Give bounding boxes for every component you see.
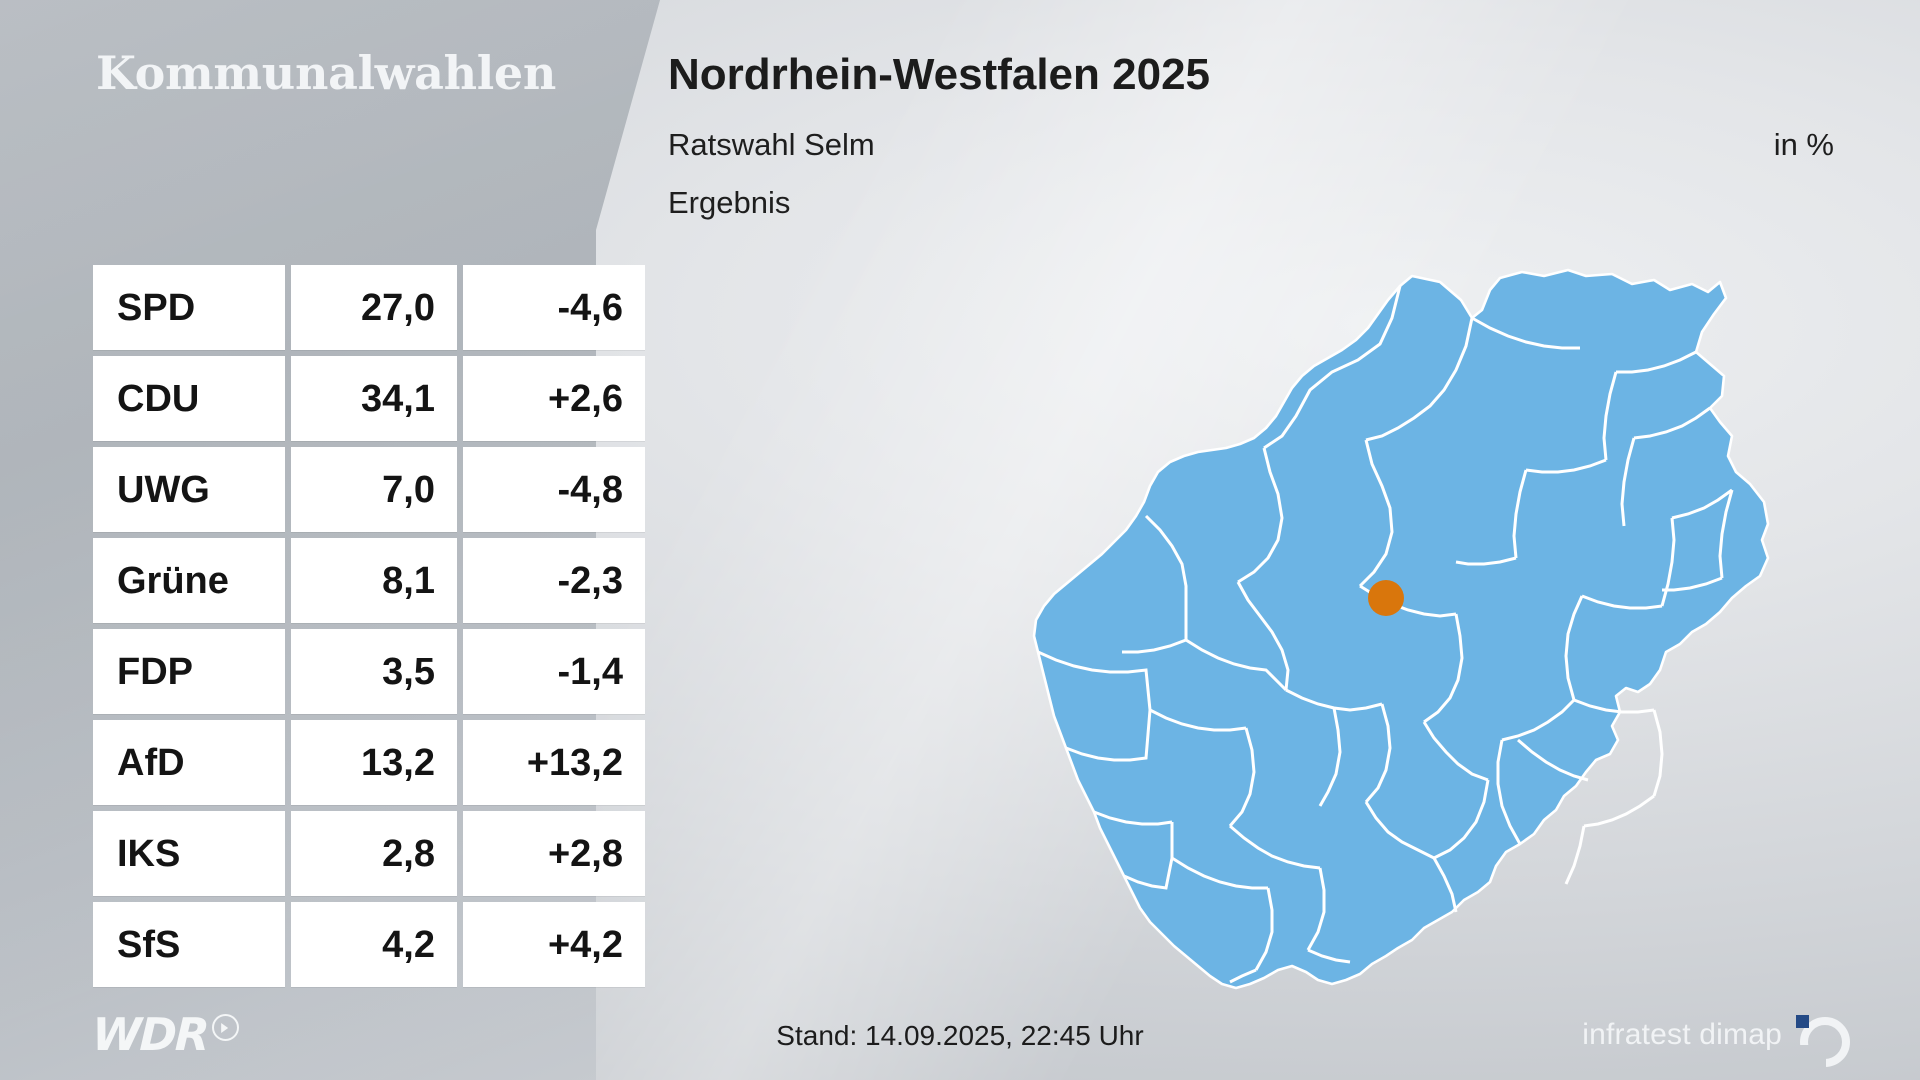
value-label: 8,1 bbox=[382, 562, 435, 600]
party-cell: AfD bbox=[93, 720, 285, 805]
party-cell: SfS bbox=[93, 902, 285, 987]
value-label: 7,0 bbox=[382, 471, 435, 509]
broadcast-graphic: Kommunalwahlen Nordrhein-Westfalen 2025 … bbox=[0, 0, 1920, 1080]
value-label: 4,2 bbox=[382, 926, 435, 964]
party-label: SPD bbox=[117, 289, 195, 327]
brand-title: Kommunalwahlen bbox=[96, 46, 556, 100]
unit-label: in % bbox=[1774, 127, 1834, 163]
party-cell: SPD bbox=[93, 265, 285, 350]
infratest-dimap-logo: infratest dimap bbox=[1582, 1015, 1836, 1055]
value-cell: 7,0 bbox=[291, 447, 457, 532]
party-cell: UWG bbox=[93, 447, 285, 532]
value-label: 2,8 bbox=[382, 835, 435, 873]
value-label: 34,1 bbox=[361, 380, 435, 418]
table-row: FDP 3,5 -1,4 bbox=[93, 629, 645, 714]
party-label: FDP bbox=[117, 653, 193, 691]
value-cell: 4,2 bbox=[291, 902, 457, 987]
table-row: IKS 2,8 +2,8 bbox=[93, 811, 645, 896]
value-cell: 27,0 bbox=[291, 265, 457, 350]
change-cell: +13,2 bbox=[463, 720, 645, 805]
change-label: +4,2 bbox=[548, 926, 623, 964]
change-cell: +2,8 bbox=[463, 811, 645, 896]
value-cell: 34,1 bbox=[291, 356, 457, 441]
party-label: Grüne bbox=[117, 562, 229, 600]
change-label: -2,3 bbox=[558, 562, 623, 600]
timestamp-label: Stand: 14.09.2025, 22:45 Uhr bbox=[776, 1020, 1143, 1052]
infratest-dimap-mark-icon bbox=[1796, 1015, 1836, 1055]
value-cell: 13,2 bbox=[291, 720, 457, 805]
party-label: AfD bbox=[117, 744, 185, 782]
party-cell: IKS bbox=[93, 811, 285, 896]
wdr-logo: WDR bbox=[92, 1012, 239, 1057]
table-row: UWG 7,0 -4,8 bbox=[93, 447, 645, 532]
party-cell: CDU bbox=[93, 356, 285, 441]
nrw-districts bbox=[1034, 270, 1768, 988]
table-row: SPD 27,0 -4,6 bbox=[93, 265, 645, 350]
change-label: -1,4 bbox=[558, 653, 623, 691]
result-subtitle: Ergebnis bbox=[668, 185, 790, 221]
nrw-map-svg bbox=[1020, 240, 1850, 1010]
change-label: +13,2 bbox=[527, 744, 623, 782]
table-row: SfS 4,2 +4,2 bbox=[93, 902, 645, 987]
party-label: SfS bbox=[117, 926, 180, 964]
change-cell: +4,2 bbox=[463, 902, 645, 987]
party-cell: FDP bbox=[93, 629, 285, 714]
change-label: -4,8 bbox=[558, 471, 623, 509]
results-table: SPD 27,0 -4,6 CDU 34,1 +2,6 UWG 7,0 -4,8… bbox=[93, 265, 645, 987]
nrw-map bbox=[1020, 240, 1850, 1010]
party-label: UWG bbox=[117, 471, 210, 509]
change-cell: -4,6 bbox=[463, 265, 645, 350]
change-label: +2,6 bbox=[548, 380, 623, 418]
change-label: +2,8 bbox=[548, 835, 623, 873]
value-cell: 3,5 bbox=[291, 629, 457, 714]
change-cell: -1,4 bbox=[463, 629, 645, 714]
change-cell: -4,8 bbox=[463, 447, 645, 532]
wdr-logo-text: WDR bbox=[91, 1012, 208, 1057]
infratest-square-shape bbox=[1796, 1015, 1809, 1028]
party-cell: Grüne bbox=[93, 538, 285, 623]
table-row: CDU 34,1 +2,6 bbox=[93, 356, 645, 441]
infratest-dimap-logo-text: infratest dimap bbox=[1582, 1018, 1782, 1052]
value-cell: 2,8 bbox=[291, 811, 457, 896]
change-label: -4,6 bbox=[558, 289, 623, 327]
page-title: Nordrhein-Westfalen 2025 bbox=[668, 50, 1210, 100]
ard-one-circle-icon bbox=[212, 1014, 239, 1041]
party-label: IKS bbox=[117, 835, 180, 873]
value-cell: 8,1 bbox=[291, 538, 457, 623]
change-cell: -2,3 bbox=[463, 538, 645, 623]
change-cell: +2,6 bbox=[463, 356, 645, 441]
election-subtitle: Ratswahl Selm bbox=[668, 127, 875, 163]
party-label: CDU bbox=[117, 380, 199, 418]
value-label: 3,5 bbox=[382, 653, 435, 691]
table-row: Grüne 8,1 -2,3 bbox=[93, 538, 645, 623]
value-label: 13,2 bbox=[361, 744, 435, 782]
selm-location-dot-icon bbox=[1368, 580, 1404, 616]
value-label: 27,0 bbox=[361, 289, 435, 327]
table-row: AfD 13,2 +13,2 bbox=[93, 720, 645, 805]
